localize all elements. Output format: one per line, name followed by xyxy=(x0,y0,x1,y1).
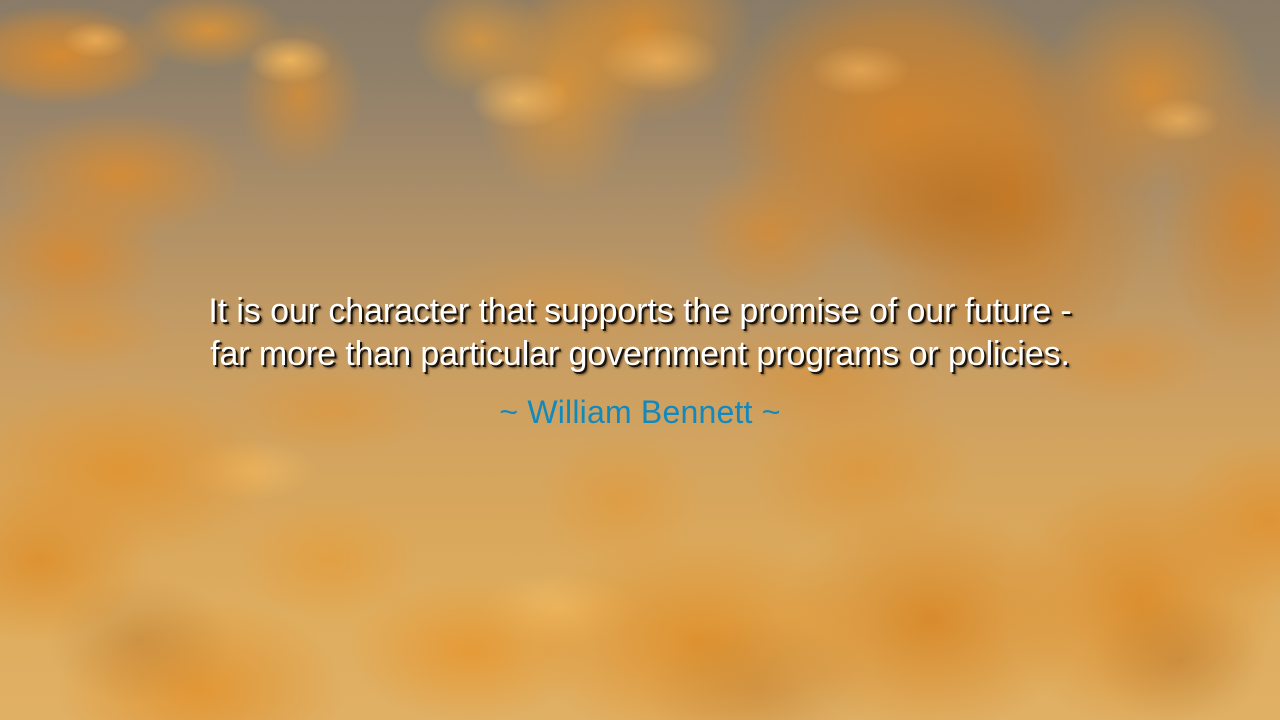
quote-wallpaper: It is our character that supports the pr… xyxy=(0,0,1280,720)
quote-author: ~ William Bennett ~ xyxy=(499,393,780,431)
text-overlay: It is our character that supports the pr… xyxy=(0,0,1280,720)
quote-text: It is our character that supports the pr… xyxy=(90,290,1190,376)
